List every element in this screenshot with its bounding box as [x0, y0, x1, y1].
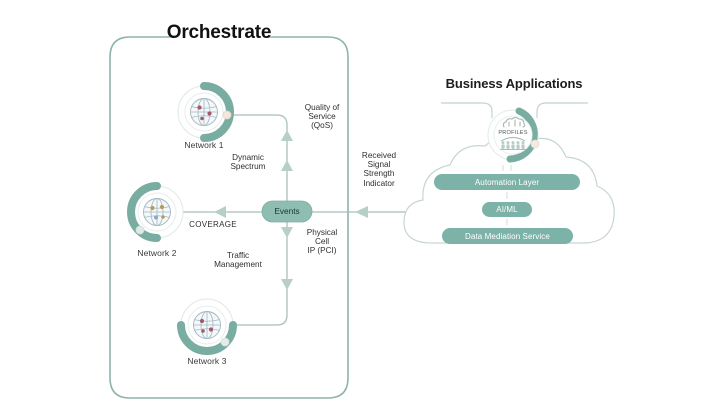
- network-3-node[interactable]: [181, 299, 233, 351]
- network-1-node[interactable]: [178, 86, 231, 138]
- coverage-label: COVERAGE: [176, 221, 250, 230]
- globe-icon: [191, 99, 218, 126]
- globe-icon: [194, 312, 221, 339]
- orchestrate-title: Orchestrate: [160, 22, 278, 44]
- data-mediation-label: Data Mediation Service: [442, 232, 573, 241]
- traffic-management-label: Traffic Management: [199, 251, 277, 269]
- dynamic-spectrum-label: Dynamic Spectrum: [214, 153, 282, 171]
- rssi-label: Received Signal Strength Indicator: [348, 151, 410, 188]
- qos-label: Quality of Service (QoS): [291, 103, 353, 131]
- network-3-label: Network 3: [167, 357, 247, 367]
- events-label: Events: [262, 206, 312, 216]
- automation-layer-label: Automation Layer: [434, 178, 580, 187]
- diagram-canvas: Orchestrate Business Applications Networ…: [0, 0, 720, 419]
- network-1-label: Network 1: [164, 141, 244, 151]
- profiles-icon-label: PROFILES: [489, 130, 537, 136]
- globe-icon: [144, 199, 171, 226]
- business-applications-title: Business Applications: [424, 76, 604, 91]
- diagram-svg: [0, 0, 720, 419]
- network-2-node[interactable]: [131, 186, 183, 238]
- ai-ml-label: AI/ML: [482, 205, 532, 214]
- pci-label: Physical Cell IP (PCI): [293, 228, 351, 256]
- network-2-label: Network 2: [117, 249, 197, 259]
